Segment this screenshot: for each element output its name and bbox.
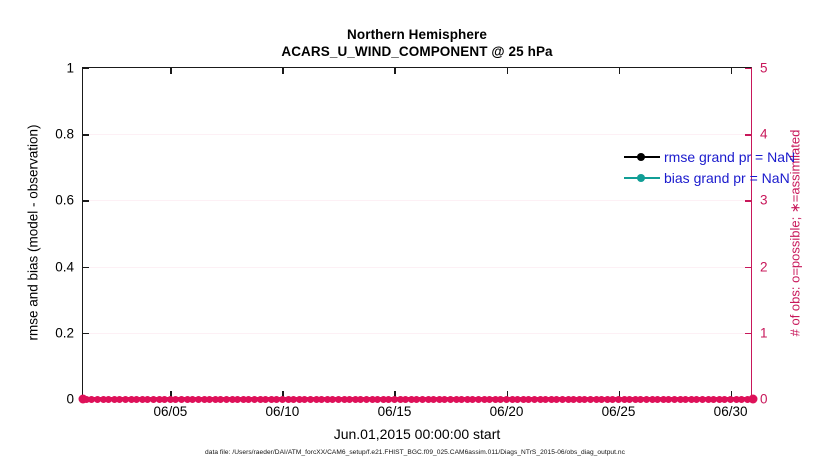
legend-circle-icon	[637, 174, 645, 182]
right-axis-tick	[745, 333, 751, 334]
legend-item[interactable]: rmse grand pr = NaN	[624, 148, 795, 166]
x-axis-tick-label: 06/20	[490, 404, 524, 419]
x-axis-tick-top	[394, 68, 395, 74]
left-axis-tick	[83, 267, 89, 268]
x-axis-tick-label: 06/15	[378, 404, 412, 419]
x-axis-tick-top	[507, 68, 508, 74]
obs-series-end-cap	[749, 395, 758, 404]
left-axis-tick-label: 0	[66, 392, 74, 407]
x-axis-tick-label: 06/10	[266, 404, 300, 419]
left-axis-tick-label: 0.8	[55, 127, 74, 142]
left-axis-title-text: rmse and bias (model - observation)	[26, 124, 41, 340]
x-axis-tick-top	[619, 68, 620, 74]
left-axis-tick	[83, 333, 89, 334]
right-axis-tick	[745, 200, 751, 201]
legend-circle-icon	[637, 153, 645, 161]
obs-series-start-cap	[79, 395, 88, 404]
gridline	[83, 333, 751, 334]
legend-item[interactable]: bias grand pr = NaN	[624, 169, 795, 187]
legend-marker-icon	[624, 151, 660, 163]
right-axis-tick	[745, 134, 751, 135]
left-axis-tick-label: 0.2	[55, 325, 74, 340]
plot-area: rmse grand pr = NaNbias grand pr = NaN 0…	[82, 67, 752, 398]
left-axis-tick	[83, 68, 89, 69]
x-axis-tick-label: 06/25	[602, 404, 636, 419]
right-axis-tick-label: 0	[760, 392, 768, 407]
left-axis-tick	[83, 134, 89, 135]
right-axis-tick-label: 2	[760, 259, 768, 274]
chart-figure: Northern Hemisphere ACARS_U_WIND_COMPONE…	[0, 0, 830, 470]
x-axis-tick-top	[731, 68, 732, 74]
gridline	[83, 267, 751, 268]
x-axis-tick-top	[282, 68, 283, 74]
x-axis-tick-top	[170, 68, 171, 74]
left-axis-tick-label: 0.6	[55, 193, 74, 208]
legend: rmse grand pr = NaNbias grand pr = NaN	[624, 148, 795, 187]
right-axis-tick-label: 4	[760, 127, 768, 142]
right-axis-tick-label: 5	[760, 61, 768, 76]
legend-label: rmse grand pr = NaN	[664, 149, 795, 165]
obs-count-baseline	[83, 397, 751, 401]
left-axis-tick-label: 1	[66, 61, 74, 76]
chart-title-variable: ACARS_U_WIND_COMPONENT @ 25 hPa	[82, 43, 752, 60]
left-axis-tick	[83, 200, 89, 201]
left-axis-title: rmse and bias (model - observation)	[24, 67, 42, 398]
legend-marker-icon	[624, 172, 660, 184]
chart-title: Northern Hemisphere ACARS_U_WIND_COMPONE…	[82, 26, 752, 60]
x-axis-tick-label: 06/30	[714, 404, 748, 419]
left-axis-tick-label: 0.4	[55, 259, 74, 274]
right-axis-tick-label: 3	[760, 193, 768, 208]
right-axis-tick	[745, 267, 751, 268]
chart-title-region: Northern Hemisphere	[82, 26, 752, 43]
datafile-caption: data file: /Users/raeder/DAI/ATM_forcXX/…	[0, 449, 830, 456]
right-axis-tick	[745, 68, 751, 69]
right-axis-title: # of obs: o=possible; ∗=assimilated	[786, 67, 804, 398]
right-axis-tick-label: 1	[760, 325, 768, 340]
x-axis-tick-label: 06/05	[153, 404, 187, 419]
gridline	[83, 200, 751, 201]
gridline	[83, 134, 751, 135]
legend-label: bias grand pr = NaN	[664, 170, 790, 186]
x-axis-title: Jun.01,2015 00:00:00 start	[82, 426, 752, 442]
